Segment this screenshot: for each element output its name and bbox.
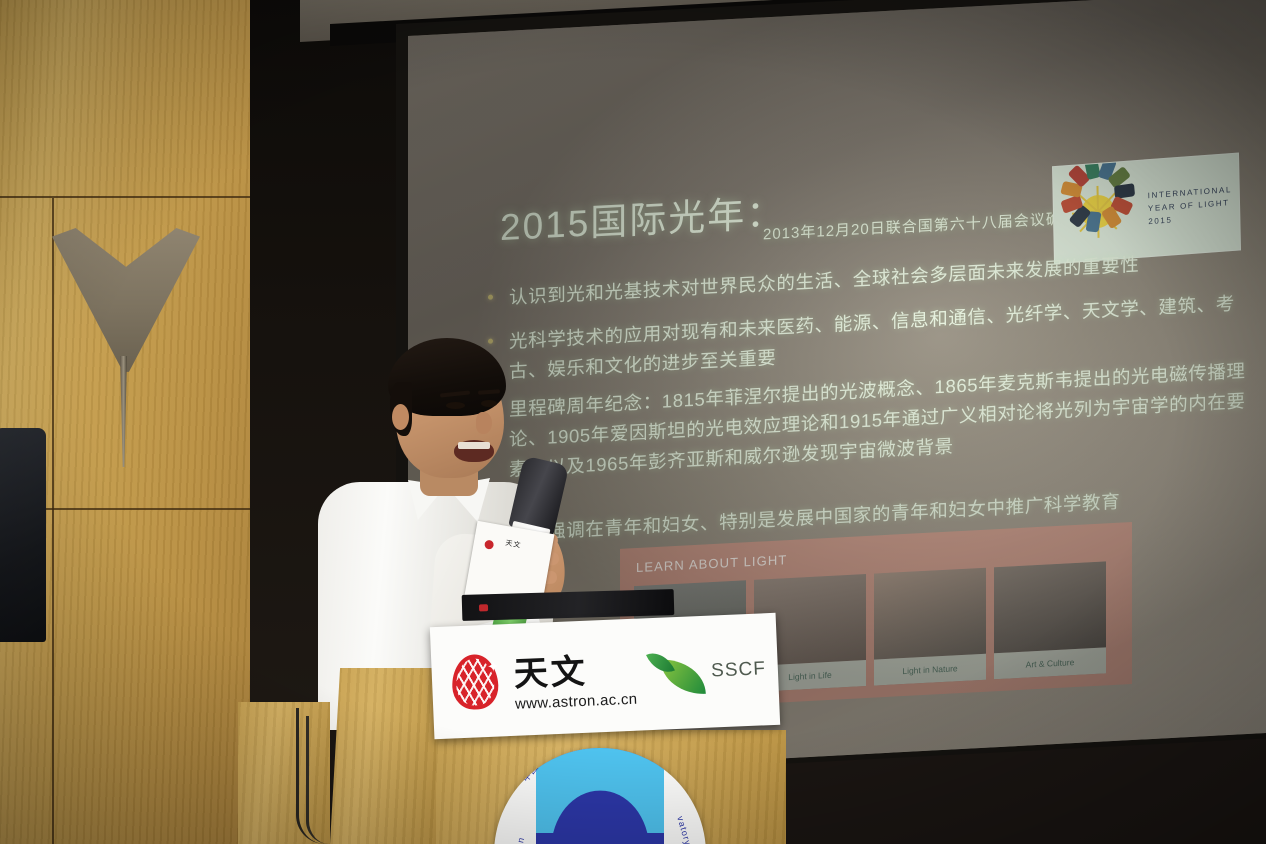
sign-brand-cn: 天文 (513, 641, 650, 696)
podium-main (330, 668, 442, 844)
sscf-leaf-icon (648, 646, 708, 700)
learn-about-light-heading: LEARN ABOUT LIGHT (636, 552, 787, 575)
slide-subtitle: 2013年12月20日联合国第六十八届会议确定 (763, 207, 1078, 244)
astron-logo-star-icon: ✦ (487, 659, 500, 675)
presenter-ear (392, 404, 409, 430)
presenter-eye (481, 400, 497, 407)
card-caption: Art & Culture (994, 647, 1106, 679)
sconce-stem (120, 356, 127, 467)
card-photo (994, 561, 1106, 653)
card-caption: Light in Nature (874, 654, 986, 686)
presenter-eye (446, 402, 465, 409)
light-card[interactable]: Light in Nature (874, 568, 986, 686)
wall-mounted-monitor (0, 428, 46, 642)
card-photo (874, 568, 986, 660)
bullet-dot-icon (488, 295, 493, 300)
podium-sign: ✦ 天文 www.astron.ac.cn SSCF (430, 613, 780, 739)
astron-logo-icon: ✦ (443, 649, 508, 714)
light-card[interactable]: Art & Culture (994, 561, 1106, 679)
mic-flag-mark-icon (484, 539, 494, 549)
wall-seam-horizontal (0, 196, 250, 198)
sign-partner-label: SSCF (707, 658, 767, 682)
emblem-text-en-left: Shan (511, 836, 527, 844)
iyl-sun-icon (1053, 165, 1143, 259)
presenter-teeth (458, 442, 490, 449)
mic-flag-label: 天文 (505, 538, 522, 551)
slide-title: 2015国际光年： (500, 182, 785, 251)
sconce-shade (52, 228, 200, 372)
laptop-logo-icon (479, 604, 488, 611)
podium-cable-secondary (306, 716, 329, 844)
wall-sconce-light (52, 228, 200, 460)
emblem-text-en-right: vatory (676, 815, 694, 844)
iyl-logo-text: INTERNATIONAL YEAR OF LIGHT 2015 (1142, 183, 1233, 229)
presenter-nose (476, 412, 492, 434)
photo-scene: 2015国际光年： 2013年12月20日联合国第六十八届会议确定 (0, 0, 1266, 844)
